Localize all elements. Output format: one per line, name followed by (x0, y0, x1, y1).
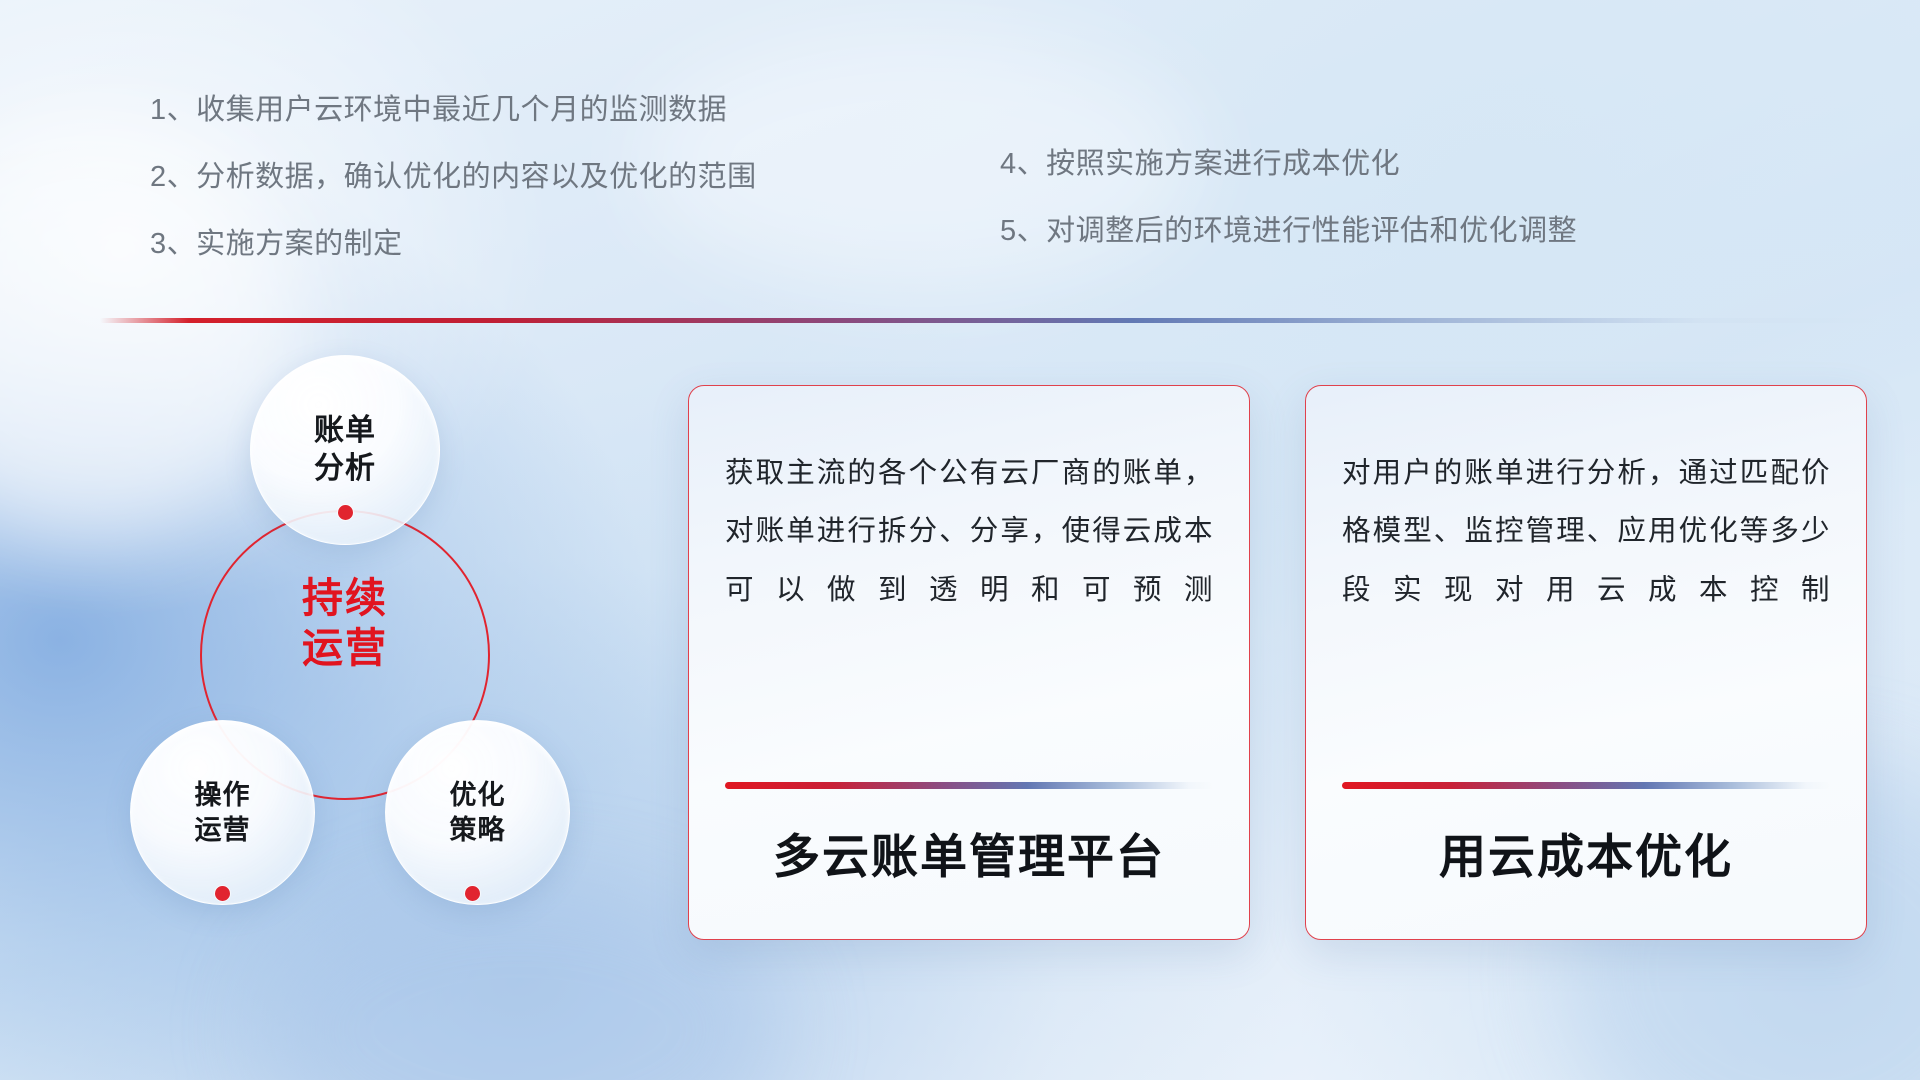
card-2-body: 对用户的账单进行分析，通过匹配价格模型、监控管理、应用优化等多少段实现对用云成本… (1306, 386, 1866, 619)
venn-bubble-right-line2: 策略 (450, 813, 506, 848)
venn-diagram: 持续 运营 账单 分析 操作 运营 优化 策略 (95, 345, 655, 945)
venn-bubble-top-line2: 分析 (314, 450, 376, 488)
venn-center-label-line1: 持续 (200, 573, 490, 623)
venn-bubble-optimization-strategy[interactable]: 优化 策略 (385, 720, 570, 905)
venn-bubble-operations[interactable]: 操作 运营 (130, 720, 315, 905)
slide-canvas: 1、收集用户云环境中最近几个月的监测数据 2、分析数据，确认优化的内容以及优化的… (0, 0, 1920, 1080)
card-1-divider (725, 782, 1213, 789)
venn-connector-dot-left (215, 886, 230, 901)
steps-column-right: 4、按照实施方案进行成本优化 5、对调整后的环境进行性能评估和优化调整 (1000, 150, 1577, 284)
steps-column-left: 1、收集用户云环境中最近几个月的监测数据 2、分析数据，确认优化的内容以及优化的… (150, 96, 757, 297)
venn-connector-dot-top (338, 505, 353, 520)
card-1-body: 获取主流的各个公有云厂商的账单，对账单进行拆分、分享，使得云成本可以做到透明和可… (689, 386, 1249, 619)
step-item-4: 4、按照实施方案进行成本优化 (1000, 150, 1577, 179)
venn-bubble-right-line1: 优化 (450, 778, 506, 813)
venn-bubble-left-line1: 操作 (195, 778, 251, 813)
card-1-description: 获取主流的各个公有云厂商的账单，对账单进行拆分、分享，使得云成本可以做到透明和可… (725, 444, 1213, 619)
feature-card-multicloud-billing[interactable]: 获取主流的各个公有云厂商的账单，对账单进行拆分、分享，使得云成本可以做到透明和可… (688, 385, 1250, 940)
card-1-title: 多云账单管理平台 (689, 789, 1249, 939)
step-item-3: 3、实施方案的制定 (150, 230, 757, 259)
card-2-description: 对用户的账单进行分析，通过匹配价格模型、监控管理、应用优化等多少段实现对用云成本… (1342, 444, 1830, 619)
section-divider-line (100, 318, 1880, 323)
step-item-1: 1、收集用户云环境中最近几个月的监测数据 (150, 96, 757, 125)
venn-center-label: 持续 运营 (200, 573, 490, 673)
venn-bubble-left-line2: 运营 (195, 813, 251, 848)
venn-bubble-top-line1: 账单 (314, 412, 376, 450)
card-2-title: 用云成本优化 (1306, 789, 1866, 939)
step-item-2: 2、分析数据，确认优化的内容以及优化的范围 (150, 163, 757, 192)
card-2-divider (1342, 782, 1830, 789)
venn-center-label-line2: 运营 (200, 623, 490, 673)
step-item-5: 5、对调整后的环境进行性能评估和优化调整 (1000, 217, 1577, 246)
feature-card-cloud-cost-optimization[interactable]: 对用户的账单进行分析，通过匹配价格模型、监控管理、应用优化等多少段实现对用云成本… (1305, 385, 1867, 940)
venn-connector-dot-right (465, 886, 480, 901)
